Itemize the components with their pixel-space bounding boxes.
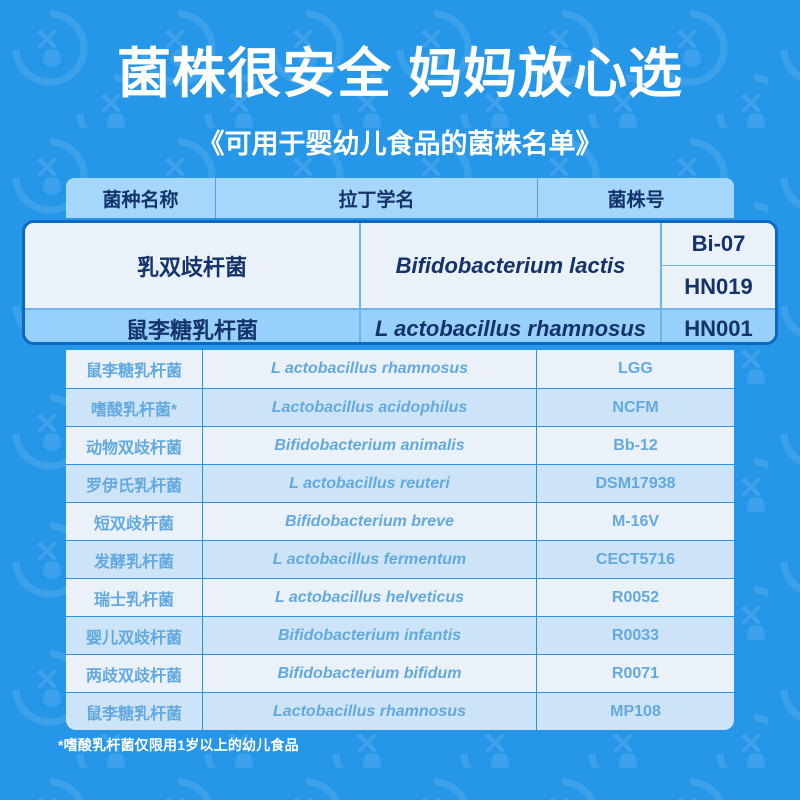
- strain-code: LGG: [537, 350, 734, 388]
- page-subtitle: 《可用于婴幼儿食品的菌株名单》: [0, 122, 800, 161]
- strain-code: R0071: [537, 655, 734, 692]
- strain-latin: Bifidobacterium animalis: [203, 427, 537, 464]
- strain-code: HN019: [662, 265, 775, 308]
- strain-name: 罗伊氏乳杆菌: [66, 465, 203, 502]
- strain-latin: L actobacillus reuteri: [203, 465, 537, 502]
- strain-latin: L actobacillus rhamnosus: [361, 310, 662, 345]
- strain-latin: Bifidobacterium lactis: [361, 223, 662, 308]
- strain-latin: Bifidobacterium bifidum: [203, 655, 537, 692]
- column-header-name: 菌种名称: [66, 178, 216, 218]
- highlighted-table-row: 乳双歧杆菌 Bifidobacterium lactis Bi-07 HN019: [25, 223, 775, 308]
- strain-name: 乳双歧杆菌: [25, 223, 361, 308]
- strain-latin: Lactobacillus acidophilus: [203, 389, 537, 426]
- strain-code: R0052: [537, 579, 734, 616]
- table-row: 罗伊氏乳杆菌L actobacillus reuteriDSM17938: [66, 464, 734, 502]
- strain-latin: L actobacillus fermentum: [203, 541, 537, 578]
- strain-code: MP108: [537, 693, 734, 730]
- strain-code: HN001: [662, 310, 775, 345]
- strain-code: R0033: [537, 617, 734, 654]
- footnote: *嗜酸乳杆菌仅限用1岁以上的幼儿食品: [58, 735, 299, 755]
- strain-name: 两歧双歧杆菌: [66, 655, 203, 692]
- table-row: 动物双歧杆菌Bifidobacterium animalisBb-12: [66, 426, 734, 464]
- strain-table-body: 鼠李糖乳杆菌L actobacillus rhamnosusLGG嗜酸乳杆菌*L…: [66, 350, 734, 730]
- strain-latin: Bifidobacterium infantis: [203, 617, 537, 654]
- strain-name: 动物双歧杆菌: [66, 427, 203, 464]
- strain-name: 瑞士乳杆菌: [66, 579, 203, 616]
- strain-latin: L actobacillus helveticus: [203, 579, 537, 616]
- strain-latin: Lactobacillus rhamnosus: [203, 693, 537, 730]
- table-row: 瑞士乳杆菌L actobacillus helveticusR0052: [66, 578, 734, 616]
- highlighted-strains-box: 乳双歧杆菌 Bifidobacterium lactis Bi-07 HN019…: [22, 220, 778, 345]
- strain-name: 鼠李糖乳杆菌: [66, 693, 203, 730]
- column-header-latin: 拉丁学名: [216, 178, 538, 218]
- strain-name: 短双歧杆菌: [66, 503, 203, 540]
- table-row: 鼠李糖乳杆菌Lactobacillus rhamnosusMP108: [66, 692, 734, 730]
- strain-name: 婴儿双歧杆菌: [66, 617, 203, 654]
- strain-code: NCFM: [537, 389, 734, 426]
- table-row: 两歧双歧杆菌Bifidobacterium bifidumR0071: [66, 654, 734, 692]
- strain-code-group: Bi-07 HN019: [662, 223, 775, 308]
- table-row: 嗜酸乳杆菌*Lactobacillus acidophilusNCFM: [66, 388, 734, 426]
- strain-code: CECT5716: [537, 541, 734, 578]
- strain-name: 发酵乳杆菌: [66, 541, 203, 578]
- highlighted-table-row: 鼠李糖乳杆菌 L actobacillus rhamnosus HN001: [25, 308, 775, 345]
- strain-code-group: HN001: [662, 310, 775, 345]
- table-row: 婴儿双歧杆菌Bifidobacterium infantisR0033: [66, 616, 734, 654]
- strain-name: 嗜酸乳杆菌*: [66, 389, 203, 426]
- strain-name: 鼠李糖乳杆菌: [66, 350, 203, 388]
- strain-latin: Bifidobacterium breve: [203, 503, 537, 540]
- strain-latin: L actobacillus rhamnosus: [203, 350, 537, 388]
- table-header-row: 菌种名称 拉丁学名 菌株号: [66, 178, 734, 218]
- strain-name: 鼠李糖乳杆菌: [25, 310, 361, 345]
- column-header-code: 菌株号: [538, 178, 734, 218]
- table-row: 鼠李糖乳杆菌L actobacillus rhamnosusLGG: [66, 350, 734, 388]
- strain-code: Bi-07: [662, 223, 775, 265]
- table-row: 发酵乳杆菌L actobacillus fermentumCECT5716: [66, 540, 734, 578]
- strain-code: DSM17938: [537, 465, 734, 502]
- strain-code: M-16V: [537, 503, 734, 540]
- table-row: 短双歧杆菌Bifidobacterium breveM-16V: [66, 502, 734, 540]
- strain-code: Bb-12: [537, 427, 734, 464]
- page-title: 菌株很安全 妈妈放心选: [0, 46, 800, 103]
